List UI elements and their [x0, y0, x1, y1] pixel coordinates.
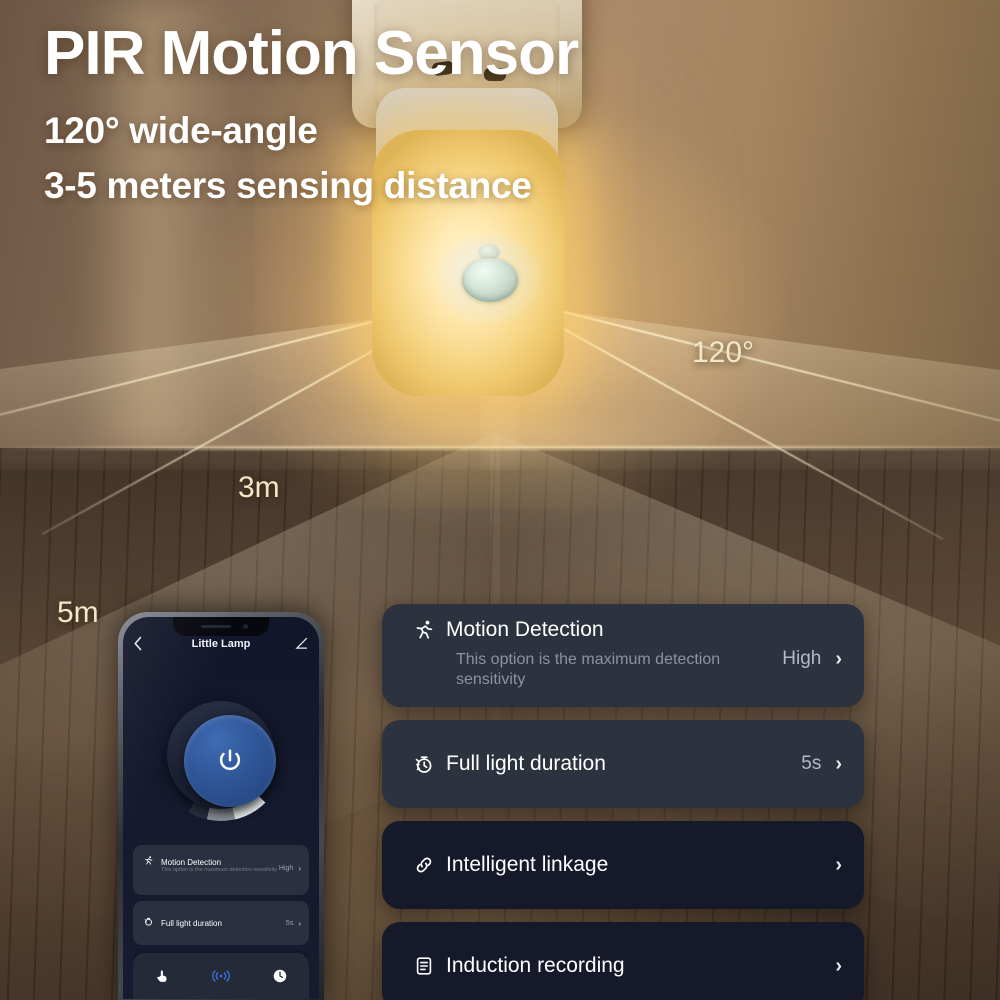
page-title: PIR Motion Sensor [44, 18, 578, 89]
product-marketing-image: PIR Motion Sensor 120° wide-angle 3-5 me… [0, 0, 1000, 1000]
app-row-value: 5s [286, 920, 293, 927]
feature-card-list: Motion Detection This option is the maxi… [382, 604, 864, 1000]
sensor-wave-icon[interactable] [212, 968, 230, 984]
subtitle-wide-angle: 120° wide-angle [44, 110, 318, 152]
document-list-icon [412, 954, 442, 978]
app-row-value: High [279, 865, 293, 872]
feature-card-title: Full light duration [446, 752, 606, 776]
chevron-right-icon: › [835, 956, 842, 976]
app-top-bar: Little Lamp [123, 635, 319, 657]
app-row-title: Full light duration [161, 919, 222, 928]
feature-card-induction-recording[interactable]: Induction recording › [382, 922, 864, 1000]
phone-screen: Little Lamp [123, 617, 319, 999]
clock-icon[interactable] [272, 968, 288, 984]
front-camera [243, 624, 248, 629]
running-person-icon [143, 853, 157, 871]
earpiece-speaker [201, 625, 231, 628]
phone-mockup: Little Lamp [118, 612, 324, 1000]
app-row-motion-detection[interactable]: Motion Detection This option is the maxi… [133, 845, 309, 895]
feature-card-value: High [782, 648, 821, 670]
subtitle-sensing-distance: 3-5 meters sensing distance [44, 165, 532, 207]
dial-ring [167, 701, 275, 809]
edit-pencil-icon[interactable] [295, 637, 308, 655]
tap-hand-icon[interactable] [154, 968, 170, 984]
pir-sensor-dome-icon [462, 258, 518, 302]
feature-card-value: 5s [801, 753, 821, 775]
app-row-full-light-duration[interactable]: Full light duration 5s › [133, 901, 309, 945]
angle-label: 120° [692, 336, 754, 370]
chevron-right-icon: › [835, 855, 842, 875]
app-row-title: Motion Detection [161, 858, 221, 867]
running-person-icon [412, 618, 442, 642]
chevron-right-icon: › [298, 919, 301, 928]
feature-card-value-group[interactable]: High › [782, 648, 842, 670]
chevron-right-icon: › [298, 864, 301, 873]
app-tab-bar [133, 953, 309, 999]
distance-label-5m: 5m [57, 596, 99, 630]
app-row-description: This option is the maximum detection sen… [161, 867, 279, 874]
phone-notch [173, 617, 269, 636]
feature-card-title: Intelligent linkage [446, 853, 608, 877]
distance-label-3m: 3m [238, 471, 280, 505]
feature-card-title: Induction recording [446, 954, 625, 978]
power-dial[interactable] [158, 695, 284, 821]
chevron-right-icon: › [835, 649, 842, 669]
link-chain-icon [412, 853, 442, 877]
app-row-value-group[interactable]: High › [279, 864, 301, 873]
stopwatch-icon [143, 914, 157, 932]
feature-card-title: Motion Detection [446, 618, 604, 642]
chevron-right-icon: › [835, 754, 842, 774]
power-button-icon[interactable] [184, 715, 276, 807]
feature-card-motion-detection[interactable]: Motion Detection This option is the maxi… [382, 604, 864, 707]
app-screen-title: Little Lamp [123, 638, 319, 650]
feature-card-description: This option is the maximum detection sen… [456, 650, 756, 691]
feature-card-intelligent-linkage[interactable]: Intelligent linkage › [382, 821, 864, 909]
stopwatch-icon [412, 752, 442, 776]
feature-card-full-light-duration[interactable]: Full light duration 5s › [382, 720, 864, 808]
